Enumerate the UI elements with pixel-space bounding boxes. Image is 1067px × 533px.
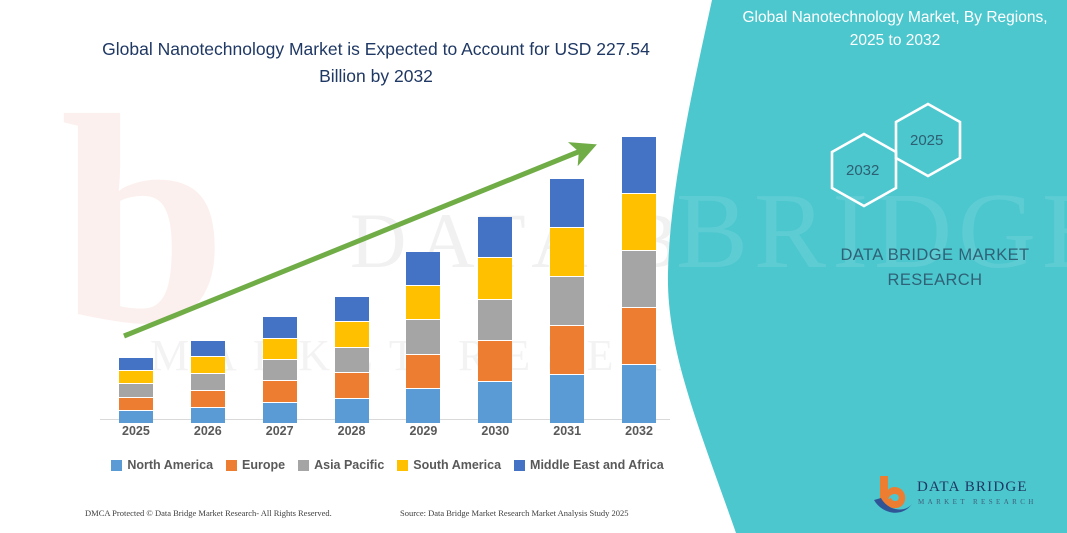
panel-brand-text: DATA BRIDGE MARKET RESEARCH (760, 243, 1067, 293)
infographic-canvas: b DATA BRIDGE MARKET RESEARCH Global Nan… (0, 0, 1067, 533)
panel-brand-line2: RESEARCH (888, 271, 983, 289)
panel-title: Global Nanotechnology Market, By Regions… (736, 6, 1054, 52)
data-bridge-logo: DATA BRIDGE MARKET RESEARCH (872, 474, 1042, 522)
logo-subtitle: MARKET RESEARCH (918, 498, 1037, 506)
logo-mark-icon (872, 474, 914, 518)
hexagon-group: 2025 2032 (820, 100, 1000, 210)
hexagon-2032-label: 2032 (846, 162, 879, 179)
logo-name: DATA BRIDGE (917, 479, 1028, 496)
hexagon-2025-label: 2025 (910, 132, 943, 149)
panel-brand-line1: DATA BRIDGE MARKET (840, 246, 1029, 264)
